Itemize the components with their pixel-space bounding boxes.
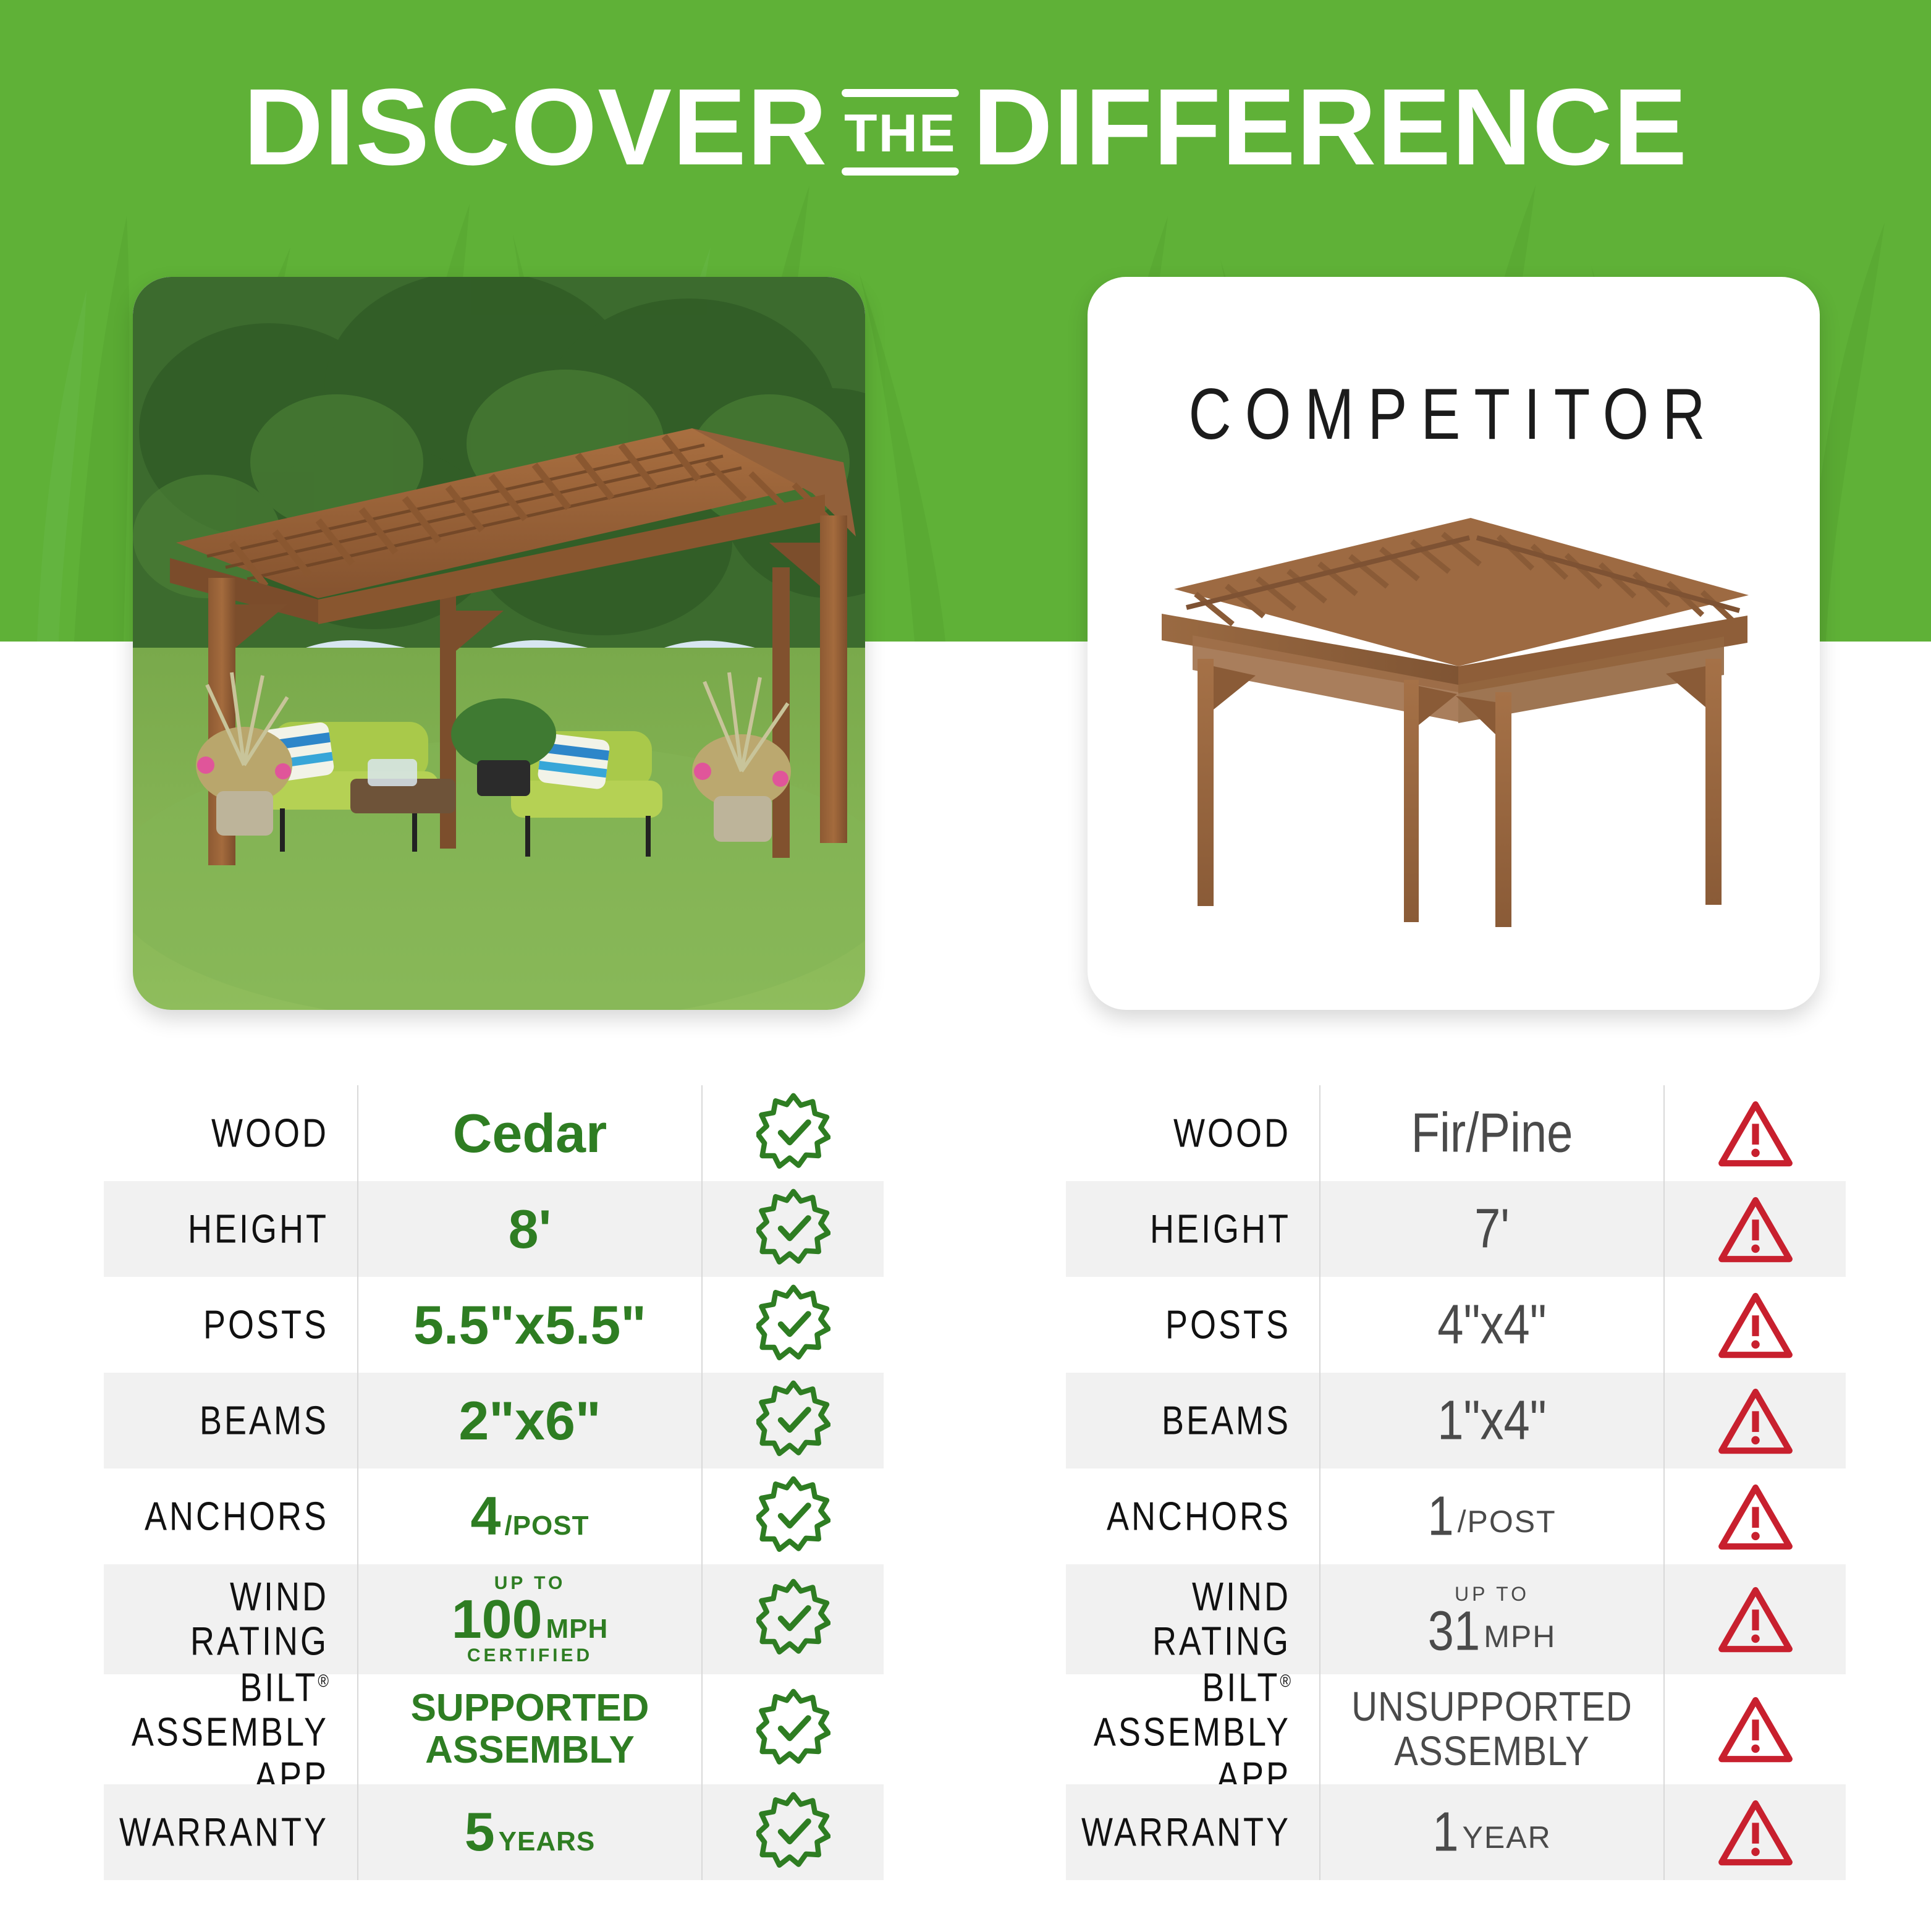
row-label: WARRANTY (1066, 1810, 1319, 1855)
table-row: POSTS 4"x4" (1066, 1277, 1846, 1373)
row-label: WOOD (1066, 1111, 1319, 1156)
title-the: THE (842, 97, 959, 167)
registered-mark: ® (318, 1671, 329, 1691)
table-row: WARRANTY 5 YEARS (104, 1784, 884, 1880)
value-text: 5.5"x5.5" (413, 1300, 646, 1350)
row-value: Cedar (357, 1085, 703, 1181)
value-line1: SUPPORTED (411, 1687, 649, 1729)
value-text: 4 (471, 1491, 501, 1541)
infographic-page: DISCOVERTHEDIFFERENCE (0, 0, 1931, 1932)
pergola-lifestyle-photo (133, 277, 865, 1010)
value-text: 31 (1428, 1602, 1481, 1662)
row-label-line2: RATING (1152, 1619, 1291, 1664)
table-row: BILT® ASSEMBLY APP SUPPORTED ASSEMBLY (104, 1674, 884, 1784)
row-label: ANCHORS (1066, 1494, 1319, 1539)
warning-triangle-icon (1665, 1784, 1846, 1880)
product-photo-card (133, 277, 865, 1010)
table-row: WIND RATING UP TO 100 MPH CERTIFIED (104, 1564, 884, 1674)
row-value: 1 YEAR (1319, 1784, 1665, 1880)
table-row: BILT® ASSEMBLY APP UNSUPPORTED ASSEMBLY (1066, 1674, 1846, 1784)
check-badge-icon (703, 1674, 884, 1784)
value-text: 5 (465, 1807, 495, 1857)
row-value: 5.5"x5.5" (357, 1277, 703, 1373)
check-badge-icon (703, 1784, 884, 1880)
value-text: 4"x4" (1437, 1295, 1547, 1355)
row-label: BEAMS (104, 1399, 357, 1443)
value-line2: ASSEMBLY (1394, 1726, 1589, 1777)
row-label: WOOD (104, 1111, 357, 1156)
title-rule-bottom (842, 167, 959, 176)
row-label: WIND RATING (104, 1575, 357, 1664)
value-suffix: YEARS (499, 1826, 596, 1857)
table-row: WOOD Cedar (104, 1085, 884, 1181)
value-text: 1 (1427, 1486, 1453, 1546)
row-value: 7' (1319, 1181, 1665, 1277)
row-label-line1: WIND (1192, 1575, 1291, 1619)
value-text: 2"x6" (458, 1396, 601, 1446)
table-row: HEIGHT 8' (104, 1181, 884, 1277)
value-line1: UNSUPPORTED (1351, 1682, 1633, 1733)
value-below: CERTIFIED (467, 1645, 593, 1667)
value-text: 7' (1474, 1199, 1510, 1259)
value-line2: ASSEMBLY (425, 1729, 635, 1771)
warning-triangle-icon (1665, 1373, 1846, 1468)
value-suffix: YEAR (1463, 1820, 1552, 1855)
row-label: POSTS (104, 1303, 357, 1347)
comparison-table-competitor: WOOD Fir/Pine HEIGHT 7' POSTS 4"x4" (1066, 1085, 1846, 1880)
warning-triangle-icon (1665, 1564, 1846, 1674)
row-value: 5 YEARS (357, 1784, 703, 1880)
value-text: 8' (509, 1205, 552, 1254)
row-value: 2"x6" (357, 1373, 703, 1468)
row-label-line1: BILT (1202, 1666, 1280, 1710)
row-value: 8' (357, 1181, 703, 1277)
row-value: 4 /POST (357, 1468, 703, 1564)
check-badge-icon (703, 1277, 884, 1373)
row-label-line1: BILT (240, 1666, 318, 1710)
row-label-line1: WIND (230, 1575, 329, 1619)
row-label: WARRANTY (104, 1810, 357, 1855)
table-row: BEAMS 1"x4" (1066, 1373, 1846, 1468)
row-value: SUPPORTED ASSEMBLY (357, 1674, 703, 1784)
table-row: WARRANTY 1 YEAR (1066, 1784, 1846, 1880)
table-row: WOOD Fir/Pine (1066, 1085, 1846, 1181)
title-rule-top (842, 89, 959, 97)
title-discover: DISCOVER (243, 67, 828, 188)
page-title: DISCOVERTHEDIFFERENCE (0, 73, 1931, 182)
registered-mark: ® (1280, 1671, 1291, 1691)
competitor-pergola-illustration (1088, 462, 1820, 932)
warning-triangle-icon (1665, 1085, 1846, 1181)
row-value: UP TO 100 MPH CERTIFIED (357, 1564, 703, 1674)
row-value: 1"x4" (1319, 1373, 1665, 1468)
row-label: BILT® ASSEMBLY APP (1066, 1659, 1319, 1799)
value-text: 1"x4" (1437, 1391, 1547, 1451)
check-badge-icon (703, 1181, 884, 1277)
row-label: HEIGHT (1066, 1207, 1319, 1252)
row-label: WIND RATING (1066, 1575, 1319, 1664)
value-suffix: /POST (1458, 1504, 1557, 1540)
warning-triangle-icon (1665, 1674, 1846, 1784)
check-badge-icon (703, 1468, 884, 1564)
warning-triangle-icon (1665, 1181, 1846, 1277)
row-label: HEIGHT (104, 1207, 357, 1252)
row-value: UNSUPPORTED ASSEMBLY (1319, 1674, 1665, 1784)
row-value: Fir/Pine (1319, 1085, 1665, 1181)
row-label: ANCHORS (104, 1494, 357, 1539)
row-label: POSTS (1066, 1303, 1319, 1347)
table-row: POSTS 5.5"x5.5" (104, 1277, 884, 1373)
row-value: UP TO 31 MPH (1319, 1564, 1665, 1674)
warning-triangle-icon (1665, 1277, 1846, 1373)
title-the-group: THE (838, 89, 963, 176)
table-row: WIND RATING UP TO 31 MPH (1066, 1564, 1846, 1674)
value-suffix: MPH (546, 1614, 609, 1645)
competitor-title: COMPETITOR (1088, 373, 1820, 456)
row-value: 4"x4" (1319, 1277, 1665, 1373)
check-badge-icon (703, 1373, 884, 1468)
value-suffix: MPH (1484, 1619, 1556, 1654)
competitor-card: COMPETITOR (1088, 277, 1820, 1010)
row-value: 1 /POST (1319, 1468, 1665, 1564)
row-label: BEAMS (1066, 1399, 1319, 1443)
table-row: BEAMS 2"x6" (104, 1373, 884, 1468)
value-text: Cedar (453, 1109, 607, 1158)
check-badge-icon (703, 1085, 884, 1181)
row-label: BILT® ASSEMBLY APP (104, 1659, 357, 1799)
comparison-table-ours: WOOD Cedar HEIGHT 8' POSTS 5.5"x5.5" (104, 1085, 884, 1880)
value-text: Fir/Pine (1411, 1103, 1573, 1163)
value-text: 100 (452, 1595, 543, 1644)
table-row: ANCHORS 4 /POST (104, 1468, 884, 1564)
title-difference: DIFFERENCE (973, 67, 1688, 188)
row-label-line2: RATING (190, 1619, 329, 1664)
check-badge-icon (703, 1564, 884, 1674)
value-text: 1 (1432, 1802, 1458, 1862)
table-row: ANCHORS 1 /POST (1066, 1468, 1846, 1564)
warning-triangle-icon (1665, 1468, 1846, 1564)
table-row: HEIGHT 7' (1066, 1181, 1846, 1277)
value-suffix: /POST (504, 1510, 589, 1541)
